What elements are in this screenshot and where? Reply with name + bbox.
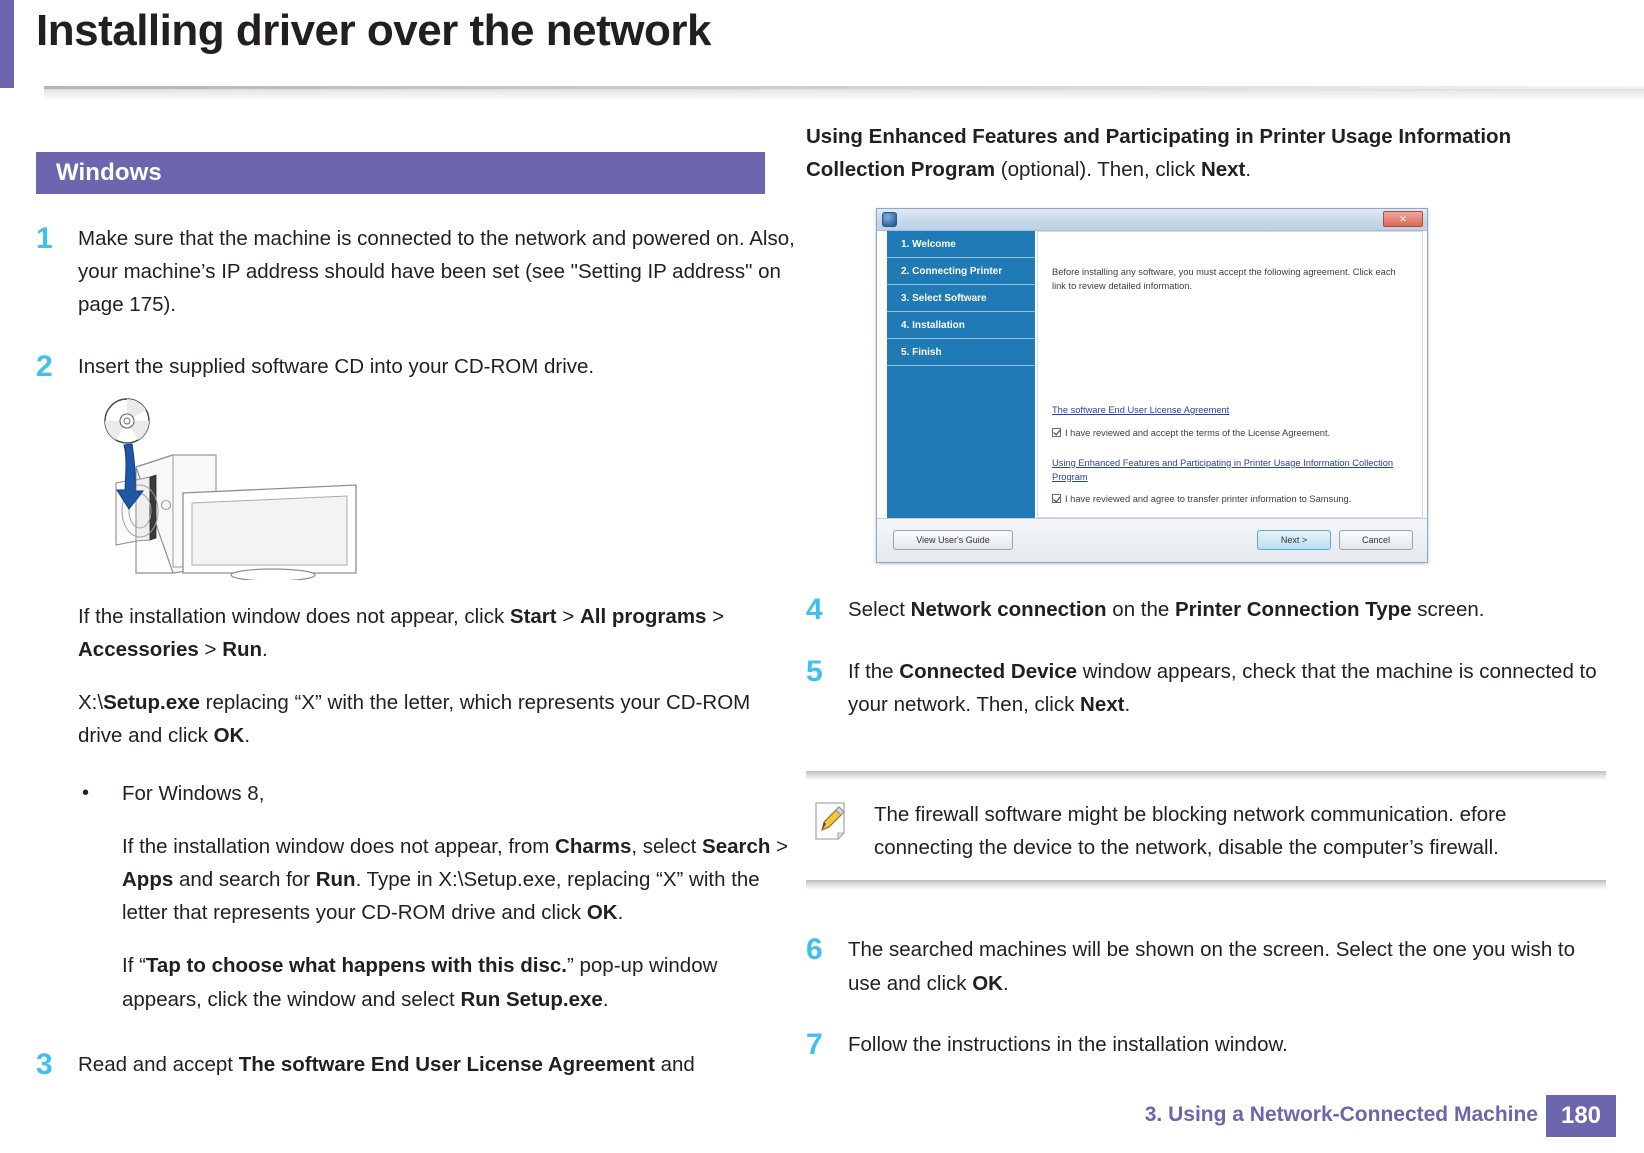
s4-seg2: on the	[1107, 598, 1175, 621]
bp1-seg3: and search for	[173, 868, 315, 891]
bullet-para-2: If “Tap to choose what happens with this…	[122, 949, 796, 1015]
section-banner-windows: Windows	[36, 152, 765, 194]
para1-accessories: Accessories	[78, 638, 199, 661]
s7-sentence: Follow the instructions in the installat…	[848, 1033, 1288, 1056]
note-callout: The firewall software might be blocking …	[806, 755, 1606, 907]
page-header: Installing driver over the network	[0, 0, 1644, 110]
sidebar-item-select-software[interactable]: 3. Select Software	[887, 285, 1035, 312]
bp2-tap-quote: Tap to choose what happens with this dis…	[146, 954, 567, 977]
eula-accept-label: I have reviewed and accept the terms of …	[1065, 427, 1330, 441]
para1-allprograms: All programs	[580, 605, 706, 628]
installer-content-pane: Before installing any software, you must…	[1037, 231, 1423, 518]
para1-seg1: If the installation window does not appe…	[78, 605, 510, 628]
bp2-end: .	[603, 988, 609, 1011]
right-column: Using Enhanced Features and Participatin…	[806, 120, 1606, 1061]
bp1-seg1: If the installation window does not appe…	[122, 835, 555, 858]
step-6: 6 The searched machines will be shown on…	[806, 933, 1606, 999]
close-icon[interactable]: ✕	[1383, 211, 1423, 227]
intro-seg2: (optional). Then, click	[995, 158, 1201, 181]
installer-app-icon	[882, 212, 897, 227]
para1-start: Start	[510, 605, 557, 628]
bp1-ok: OK	[587, 901, 618, 924]
step-7-number: 7	[806, 1028, 848, 1061]
step-3: 3 Read and accept The software End User …	[36, 1048, 796, 1081]
bp1-search: Search	[702, 835, 770, 858]
para1-end: .	[262, 638, 268, 661]
s5-next: Next	[1080, 693, 1124, 716]
step-3-number: 3	[36, 1048, 78, 1081]
usage-accept-label: I have reviewed and agree to transfer pr…	[1065, 493, 1351, 507]
bullet-lead-text: For Windows 8,	[122, 777, 796, 810]
para1-run: Run	[222, 638, 262, 661]
s6-ok: OK	[972, 972, 1003, 995]
installer-agreements: The software End User License Agreement …	[1052, 404, 1408, 508]
step-2-text: Insert the supplied software CD into you…	[78, 350, 796, 1016]
step-1: 1 Make sure that the machine is connecte…	[36, 222, 796, 322]
sidebar-item-finish[interactable]: 5. Finish	[887, 339, 1035, 366]
step3-seg1: Read and accept	[78, 1053, 239, 1076]
installer-intro-text: Before installing any software, you must…	[1052, 266, 1408, 294]
intro-next: Next	[1201, 158, 1245, 181]
step-6-text: The searched machines will be shown on t…	[848, 933, 1606, 999]
next-button[interactable]: Next >	[1257, 530, 1331, 550]
para2-end: .	[244, 724, 250, 747]
usage-accept-row[interactable]: I have reviewed and agree to transfer pr…	[1052, 493, 1408, 507]
step-4-number: 4	[806, 593, 848, 626]
step-2: 2 Insert the supplied software CD into y…	[36, 350, 796, 1016]
step-4: 4 Select Network connection on the Print…	[806, 593, 1606, 626]
s4-network-connection: Network connection	[911, 598, 1107, 621]
intro-end: .	[1245, 158, 1251, 181]
note-pencil-icon	[806, 798, 874, 864]
step-5-number: 5	[806, 655, 848, 721]
bp1-run: Run	[316, 868, 356, 891]
step-1-sentence: Make sure that the machine is connected …	[78, 227, 795, 316]
eula-accept-row[interactable]: I have reviewed and accept the terms of …	[1052, 427, 1408, 441]
s4-printer-connection-type: Printer Connection Type	[1175, 598, 1412, 621]
note-inner: The firewall software might be blocking …	[806, 780, 1606, 880]
eula-link[interactable]: The software End User License Agreement	[1052, 404, 1408, 418]
installer-step-sidebar: 1. Welcome 2. Connecting Printer 3. Sele…	[887, 231, 1035, 518]
step-7-text: Follow the instructions in the installat…	[848, 1028, 1606, 1061]
installer-body: 1. Welcome 2. Connecting Printer 3. Sele…	[877, 231, 1427, 562]
para2-ok: OK	[214, 724, 245, 747]
samsung-printer-installer-screenshot: ✕ 1. Welcome 2. Connecting Printer 3. Se…	[876, 208, 1428, 563]
bp1-charms: Charms	[555, 835, 631, 858]
step3-eula: The software End User License Agreement	[239, 1053, 655, 1076]
s6-seg1: The searched machines will be shown on t…	[848, 938, 1575, 994]
bp2-seg1: If “	[122, 954, 146, 977]
list-item-windows8: • For Windows 8, If the installation win…	[78, 777, 796, 1016]
after-illustration-para-1: If the installation window does not appe…	[78, 600, 796, 666]
section-banner-label: Windows	[36, 159, 162, 187]
para1-sep2: >	[706, 605, 724, 628]
page-number-badge: 180	[1546, 1095, 1616, 1137]
eula-accept-checkbox[interactable]	[1052, 428, 1061, 437]
bullet-dot-icon: •	[78, 777, 122, 1016]
step-1-text: Make sure that the machine is connected …	[78, 222, 796, 322]
bp1-sep: >	[770, 835, 788, 858]
step-1-number: 1	[36, 222, 78, 322]
header-divider-shadow	[44, 86, 1644, 89]
step-7: 7 Follow the instructions in the install…	[806, 1028, 1606, 1061]
footer-chapter-label: 3. Using a Network-Connected Machine	[1145, 1103, 1538, 1127]
usage-collection-link[interactable]: Using Enhanced Features and Participatin…	[1052, 457, 1408, 485]
note-bottom-rule	[806, 880, 1606, 889]
note-text: The firewall software might be blocking …	[874, 798, 1606, 864]
s4-end: screen.	[1412, 598, 1485, 621]
after-illustration-para-2: X:\Setup.exe replacing “X” with the lett…	[78, 686, 796, 752]
s5-end: .	[1124, 693, 1130, 716]
step-5-text: If the Connected Device window appears, …	[848, 655, 1606, 721]
view-users-guide-button[interactable]: View User's Guide	[893, 530, 1013, 550]
para1-sep1: >	[557, 605, 580, 628]
bp1-seg2: , select	[631, 835, 702, 858]
sidebar-item-installation[interactable]: 4. Installation	[887, 312, 1035, 339]
page-footer: 3. Using a Network-Connected Machine 180	[0, 1095, 1644, 1137]
step-5: 5 If the Connected Device window appears…	[806, 655, 1606, 721]
cd-into-computer-illustration	[88, 395, 378, 580]
cancel-button[interactable]: Cancel	[1339, 530, 1413, 550]
bp1-apps: Apps	[122, 868, 173, 891]
step-2-number: 2	[36, 350, 78, 1016]
header-accent-bar	[0, 0, 14, 88]
para2-setupexe: Setup.exe	[103, 691, 200, 714]
note-top-rule	[806, 771, 1606, 780]
sidebar-item-connecting-printer[interactable]: 2. Connecting Printer	[887, 258, 1035, 285]
bullet-content: For Windows 8, If the installation windo…	[122, 777, 796, 1016]
para2-seg1: X:\	[78, 691, 103, 714]
page-title: Installing driver over the network	[36, 6, 711, 56]
installer-titlebar: ✕	[877, 209, 1427, 231]
step-6-number: 6	[806, 933, 848, 999]
bullet-para-1: If the installation window does not appe…	[122, 830, 796, 930]
usage-accept-checkbox[interactable]	[1052, 494, 1061, 503]
right-intro-paragraph: Using Enhanced Features and Participatin…	[806, 120, 1606, 186]
sidebar-item-welcome[interactable]: 1. Welcome	[887, 231, 1035, 258]
step-4-text: Select Network connection on the Printer…	[848, 593, 1606, 626]
step-3-text: Read and accept The software End User Li…	[78, 1048, 796, 1081]
bp1-end: .	[618, 901, 624, 924]
bp2-runsetup: Run Setup.exe	[460, 988, 602, 1011]
installer-footer: View User's Guide Next > Cancel	[877, 518, 1427, 562]
step3-end: and	[655, 1053, 695, 1076]
step-2-sentence: Insert the supplied software CD into you…	[78, 355, 594, 378]
s5-connected-device: Connected Device	[899, 660, 1077, 683]
left-column: Windows 1 Make sure that the machine is …	[36, 128, 796, 1081]
s6-end: .	[1003, 972, 1009, 995]
s5-seg1: If the	[848, 660, 899, 683]
s4-seg1: Select	[848, 598, 911, 621]
para1-sep3: >	[199, 638, 222, 661]
